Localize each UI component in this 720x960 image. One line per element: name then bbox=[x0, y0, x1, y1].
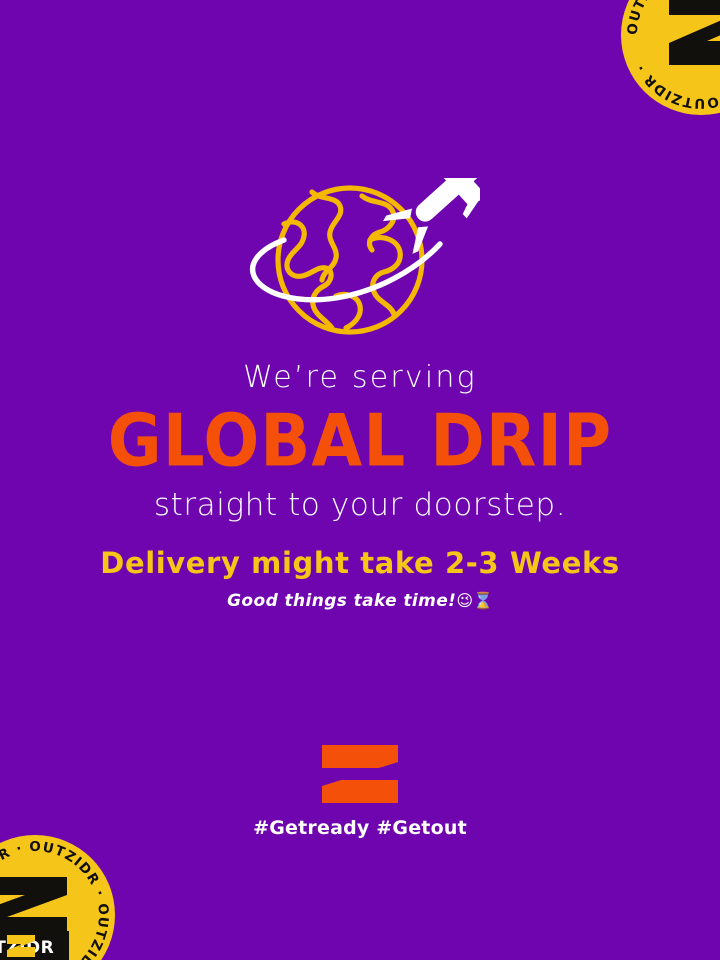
airplane-icon bbox=[375, 178, 480, 261]
hourglass-emoji: ⌛ bbox=[473, 591, 493, 610]
wink-face-emoji: 😉 bbox=[456, 591, 473, 610]
globe-airplane-illustration bbox=[240, 178, 480, 343]
headline-line-2: GLOBAL DRIP bbox=[0, 400, 720, 481]
delivery-time-notice: Delivery might take 2-3 Weeks bbox=[0, 548, 720, 580]
brand-badge-bottom-left: OUTZIDR · OUTZIDR · OUTZIDR · OUTZIDR · … bbox=[0, 835, 115, 960]
headline-line-3: straight to your doorstep. bbox=[0, 489, 720, 522]
footer-hashtags: #Getready #Getout bbox=[0, 818, 720, 839]
brand-badge-top-right: OUTZIDR · OUTZIDR · OUTZIDR · OUTZIDR · bbox=[621, 0, 720, 115]
badge-big-z-mark bbox=[669, 0, 720, 65]
z-monogram-logo bbox=[319, 744, 401, 804]
delivery-notice-block: Delivery might take 2-3 Weeks Good thing… bbox=[0, 548, 720, 611]
globe-landmass-icon bbox=[284, 192, 400, 328]
footer-block: #Getready #Getout bbox=[0, 744, 720, 839]
delivery-reassurance-text: Good things take time! bbox=[227, 591, 456, 611]
headline-line-1: We’re serving bbox=[0, 362, 720, 394]
badge-big-z-mark bbox=[0, 877, 67, 935]
promo-poster: We’re serving GLOBAL DRIP straight to yo… bbox=[0, 0, 720, 960]
delivery-reassurance: Good things take time!😉⌛ bbox=[0, 592, 720, 611]
headline-block: We’re serving GLOBAL DRIP straight to yo… bbox=[0, 362, 720, 521]
